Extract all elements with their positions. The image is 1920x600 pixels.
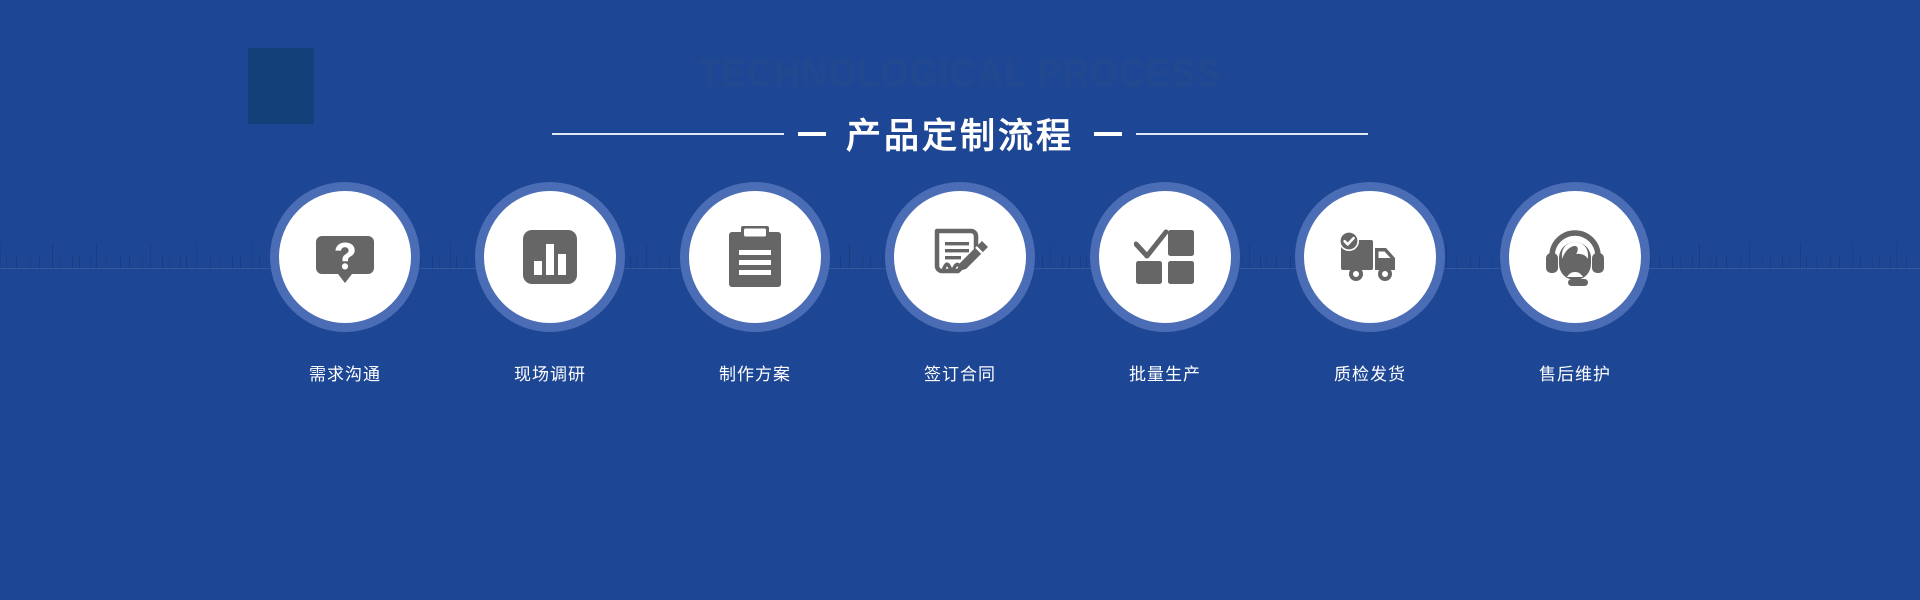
step-circle-7[interactable]	[1500, 182, 1650, 332]
step-circle-6[interactable]	[1295, 182, 1445, 332]
question-bubble-icon	[314, 226, 376, 288]
title-dash-right	[1094, 132, 1122, 136]
process-step-4[interactable]: 签订合同	[885, 182, 1035, 385]
step-circle-5[interactable]	[1090, 182, 1240, 332]
process-step-1[interactable]: 需求沟通	[270, 182, 420, 385]
chinese-title-row: 产品定制流程	[0, 108, 1920, 159]
step-label-4: 签订合同	[924, 360, 996, 385]
process-step-3[interactable]: 制作方案	[680, 182, 830, 385]
step-circle-2[interactable]	[475, 182, 625, 332]
step-circle-4[interactable]	[885, 182, 1035, 332]
title-rule-left	[552, 133, 784, 135]
step-label-1: 需求沟通	[309, 360, 381, 385]
step-label-7: 售后维护	[1539, 360, 1611, 385]
clipboard-icon	[727, 225, 783, 289]
delivery-truck-check-icon	[1337, 230, 1403, 284]
process-step-7[interactable]: 售后维护	[1500, 182, 1650, 385]
process-step-2[interactable]: 现场调研	[475, 182, 625, 385]
bar-chart-icon	[521, 228, 579, 286]
step-label-5: 批量生产	[1129, 360, 1201, 385]
title-rule-right	[1136, 133, 1368, 135]
contract-signing-icon	[928, 225, 992, 289]
title-dash-left	[798, 132, 826, 136]
step-label-3: 制作方案	[719, 360, 791, 385]
step-label-2: 现场调研	[514, 360, 586, 385]
english-title: TECHNOLOGICAL PROCESS	[67, 52, 1853, 96]
process-banner: TECHNOLOGICAL PROCESS 产品定制流程 需求沟通	[0, 0, 1920, 600]
process-step-6[interactable]: 质检发货	[1295, 182, 1445, 385]
check-blocks-icon	[1134, 228, 1196, 286]
step-circle-1[interactable]	[270, 182, 420, 332]
headset-support-icon	[1544, 226, 1606, 288]
process-step-5[interactable]: 批量生产	[1090, 182, 1240, 385]
chinese-title: 产品定制流程	[840, 108, 1080, 159]
step-label-6: 质检发货	[1334, 360, 1406, 385]
process-steps: 需求沟通 现场调研	[0, 182, 1920, 385]
step-circle-3[interactable]	[680, 182, 830, 332]
